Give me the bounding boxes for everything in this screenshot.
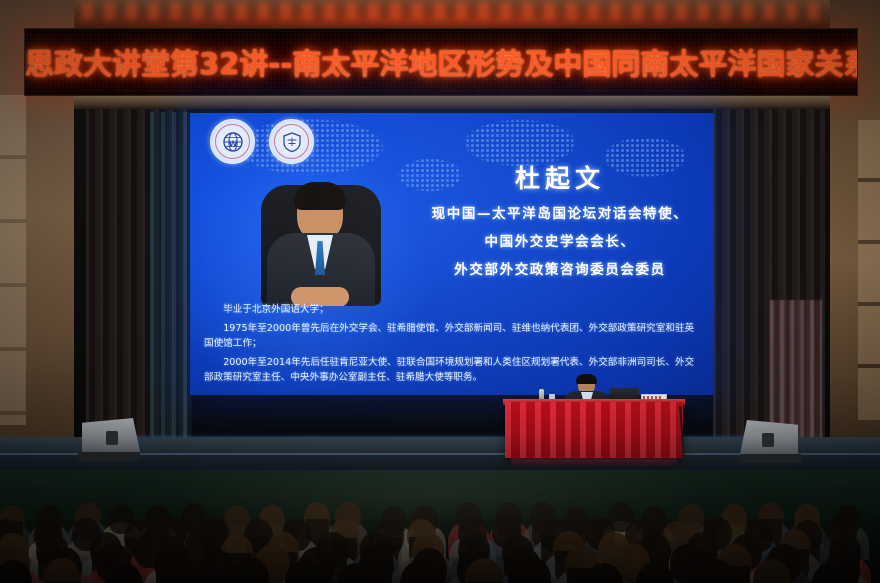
led-banner-text: 思政大讲堂第32讲--南太平洋地区形势及中国同南太平洋国家关系 xyxy=(25,41,857,83)
bio-line-3: 2000年至2014年先后任驻肯尼亚大使、驻联合国环境规划署和人类住区规划署代表… xyxy=(204,355,700,386)
portrait-hair xyxy=(294,182,346,210)
proscenium-top xyxy=(74,96,830,109)
presenter-table xyxy=(505,390,683,465)
speaker-portrait xyxy=(245,171,395,306)
monitor-grille xyxy=(762,433,774,447)
emblem-group: W xyxy=(210,119,314,164)
bio-line-1: 毕业于北京外国语大学； xyxy=(204,302,700,318)
emblem-ring xyxy=(215,124,250,159)
red-table-cloth xyxy=(505,402,683,458)
stage-monitor-right xyxy=(740,420,802,463)
emblem-ring xyxy=(274,124,309,159)
banner-glow-dots xyxy=(60,2,830,20)
table-floor-reflection xyxy=(511,458,677,467)
speaker-hair xyxy=(576,374,597,384)
bio-line-2: 1975年至2000年曾先后在外交学会、驻希腊使馆、外交部新闻司、驻维也纳代表团… xyxy=(204,321,700,352)
curtain-teal-accent xyxy=(150,112,192,457)
stage-monitor-left xyxy=(78,418,140,461)
monitor-body xyxy=(82,418,140,452)
speaker-name: 杜起文 xyxy=(414,159,706,195)
speaker-title-1: 现中国—太平洋岛国论坛对话会特使、 xyxy=(414,207,706,222)
shield-emblem-icon xyxy=(269,119,314,164)
monitor-base xyxy=(78,452,140,461)
speaker-title-2: 中国外交史学会会长、 xyxy=(414,235,706,250)
projection-screen: W 杜起文 现中国—太平洋岛国论坛对话会特使、 xyxy=(190,113,714,395)
audience-area xyxy=(0,470,880,583)
speaker-biography: 毕业于北京外国语大学； 1975年至2000年曾先后在外交学会、驻希腊使馆、外交… xyxy=(204,302,700,389)
lecture-hall-photo: 思政大讲堂第32讲--南太平洋地区形势及中国同南太平洋国家关系 W xyxy=(0,0,880,583)
wall-left-panels xyxy=(0,95,26,425)
monitor-grille xyxy=(106,431,118,445)
slide-text-block: 杜起文 现中国—太平洋岛国论坛对话会特使、 中国外交史学会会长、 外交部外交政策… xyxy=(414,159,706,291)
globe-emblem-icon: W xyxy=(210,119,255,164)
audience-hair xyxy=(201,571,232,583)
speaker-title-3: 外交部外交政策咨询委员会委员 xyxy=(414,263,706,278)
wall-right-panels xyxy=(858,120,880,420)
monitor-base xyxy=(740,454,802,463)
led-banner: 思政大讲堂第32讲--南太平洋地区形势及中国同南太平洋国家关系 xyxy=(24,28,858,96)
monitor-body xyxy=(740,420,798,454)
